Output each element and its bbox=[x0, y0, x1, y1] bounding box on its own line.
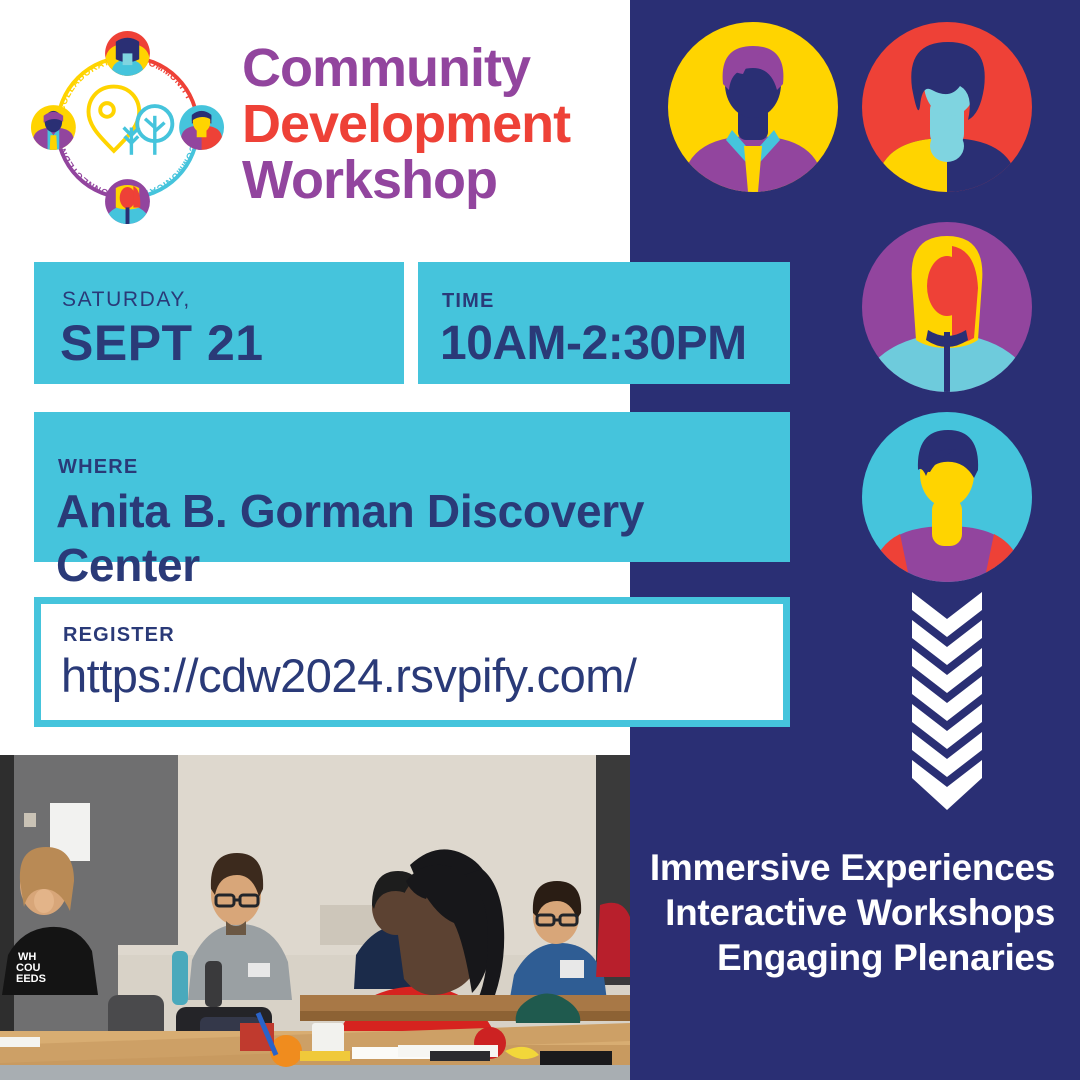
date-value: SEPT 21 bbox=[60, 314, 264, 372]
register-url[interactable]: https://cdw2024.rsvpify.com/ bbox=[61, 648, 636, 703]
workshop-photo: WH COU EEDS bbox=[0, 755, 630, 1080]
taglines-block: Immersive Experiences Interactive Worksh… bbox=[640, 845, 1055, 980]
title-line-community: Community bbox=[242, 40, 570, 96]
time-value: 10AM-2:30PM bbox=[440, 316, 747, 371]
page-title: Community Development Workshop bbox=[242, 40, 570, 208]
date-box: SATURDAY, SEPT 21 bbox=[34, 262, 404, 384]
svg-text:EEDS: EEDS bbox=[16, 973, 46, 985]
time-box: TIME 10AM-2:30PM bbox=[418, 262, 790, 384]
register-box[interactable]: REGISTER https://cdw2024.rsvpify.com/ bbox=[34, 597, 790, 727]
tagline-2: Interactive Workshops bbox=[640, 890, 1055, 935]
register-label: REGISTER bbox=[63, 624, 175, 647]
event-flyer: COMMUNITY COMMUNICATION CONNECTEDNESS CO… bbox=[0, 0, 1080, 1080]
date-label: SATURDAY, bbox=[62, 288, 191, 312]
chevron-down-arrow-icon bbox=[908, 592, 986, 814]
community-development-workshop-logo-icon: COMMUNITY COMMUNICATION CONNECTEDNESS CO… bbox=[30, 30, 225, 225]
avatar-person-1 bbox=[668, 22, 838, 192]
logo-block: COMMUNITY COMMUNICATION CONNECTEDNESS CO… bbox=[30, 22, 610, 232]
title-line-workshop: Workshop bbox=[242, 152, 570, 208]
svg-text:COLLABORATION: COLLABORATION bbox=[30, 30, 121, 113]
avatar-person-2 bbox=[862, 22, 1032, 192]
avatar-person-4 bbox=[862, 412, 1032, 582]
tagline-1: Immersive Experiences bbox=[640, 845, 1055, 890]
avatar-person-3 bbox=[862, 222, 1032, 392]
where-label: WHERE bbox=[58, 456, 138, 479]
tagline-3: Engaging Plenaries bbox=[640, 935, 1055, 980]
where-box: WHERE Anita B. Gorman Discovery Center bbox=[34, 412, 790, 562]
time-label: TIME bbox=[442, 290, 495, 313]
title-line-development: Development bbox=[242, 96, 570, 152]
svg-text:COMMUNITY: COMMUNITY bbox=[140, 56, 195, 103]
where-value: Anita B. Gorman Discovery Center bbox=[56, 484, 790, 592]
